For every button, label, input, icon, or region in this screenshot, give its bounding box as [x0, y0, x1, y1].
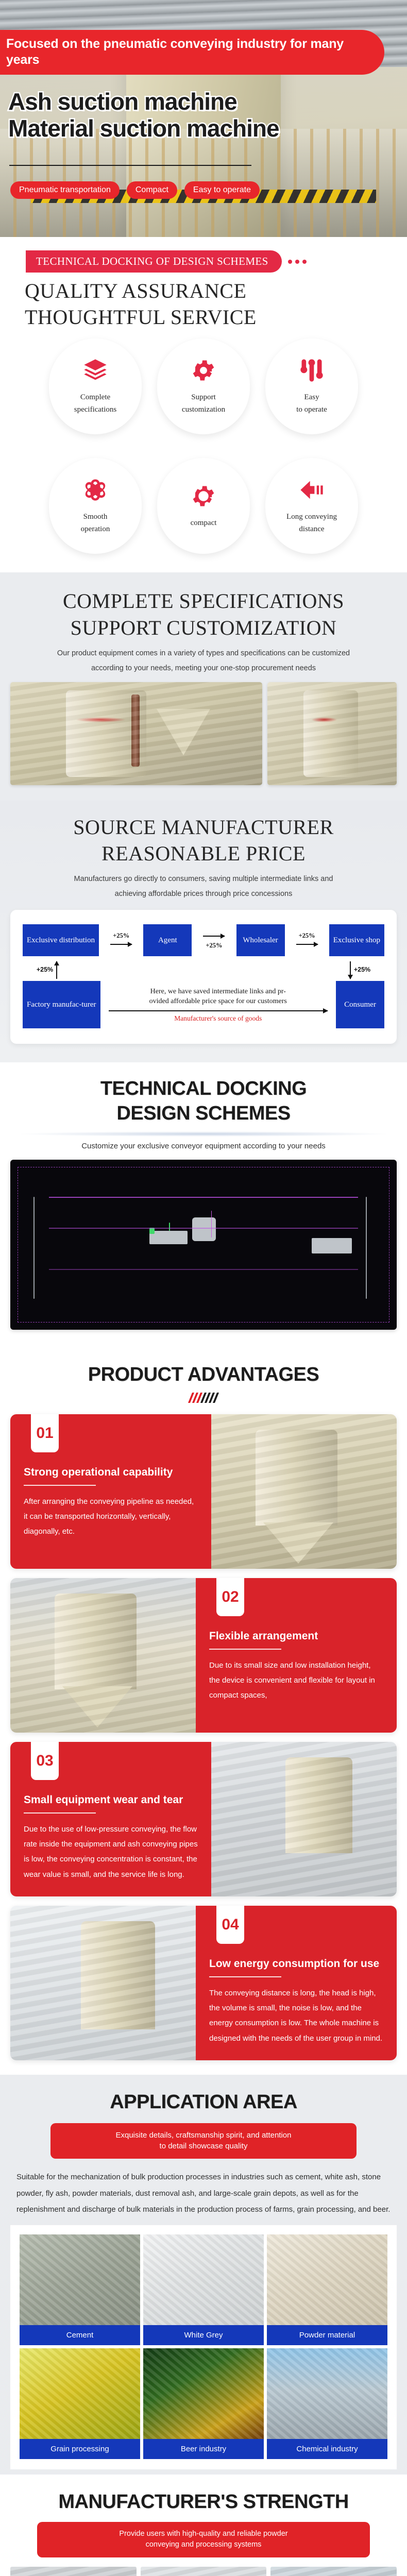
- quality-title: QUALITY ASSURANCE THOUGHTFUL SERVICE: [0, 275, 407, 330]
- specs-desc-line-2: according to your needs, meeting your on…: [27, 661, 380, 676]
- application-cell-beer-industry[interactable]: Beer industry: [143, 2348, 264, 2459]
- feature-pill-long-conveying-distance[interactable]: Long conveyingdistance: [265, 458, 358, 554]
- layers-icon: [82, 357, 109, 384]
- hero-title-line-1: Ash suction machine: [8, 89, 279, 115]
- hero-tag-0[interactable]: Pneumatic transportation: [10, 181, 120, 199]
- chain-node-exclusive-distribution: Exclusive distribution: [23, 924, 99, 956]
- advantage-rule: [209, 1649, 281, 1650]
- application-thumb: [20, 2234, 140, 2325]
- strength-banner-line-1: Provide users with high-quality and reli…: [45, 2529, 362, 2540]
- advantage-text-01: 01 Strong operational capability After a…: [10, 1414, 211, 1569]
- application-cell-cement[interactable]: Cement: [20, 2234, 140, 2345]
- advantage-photo-04: [10, 1906, 196, 2060]
- chain-arrow-1: +25%: [99, 932, 143, 949]
- quality-ribbon-row: TECHNICAL DOCKING OF DESIGN SCHEMES: [0, 237, 407, 275]
- chain-bottom-row: Factory manufac-turer Here, we have save…: [23, 981, 384, 1028]
- application-title: APPLICATION AREA: [0, 2075, 407, 2115]
- arrow-down-icon: [350, 961, 351, 979]
- application-thumb: [267, 2348, 387, 2439]
- application-banner-line-1: Exquisite details, craftsmanship spirit,…: [59, 2130, 348, 2141]
- advantage-body-03: Due to the use of low-pressure conveying…: [24, 1822, 198, 1882]
- advantage-heading-01: Strong operational capability: [24, 1466, 198, 1479]
- hero-banner-text: Focused on the pneumatic conveying indus…: [0, 30, 384, 75]
- quality-ribbon-label: TECHNICAL DOCKING OF DESIGN SCHEMES: [26, 250, 282, 273]
- arrow-up-icon: [56, 961, 57, 979]
- chain-node-wholesaler: Wholesaler: [236, 924, 285, 956]
- ribbon-dots-icon: [288, 260, 307, 264]
- chain-note-red: Manufacturer's source of goods: [109, 1014, 328, 1023]
- advantage-card-03: 03 Small equipment wear and tear Due to …: [10, 1742, 397, 1896]
- application-caption: Chemical industry: [267, 2439, 387, 2459]
- advantage-body-01: After arranging the conveying pipeline a…: [24, 1494, 198, 1539]
- advantage-heading-02: Flexible arrangement: [209, 1630, 383, 1642]
- technical-title-line-1: TECHNICAL DOCKING: [10, 1077, 397, 1101]
- advantage-text-04: 04 Low energy consumption for use The co…: [196, 1906, 397, 2060]
- advantage-text-02: 02 Flexible arrangement Due to its small…: [196, 1578, 397, 1733]
- chain-arrow-2: +25%: [192, 931, 236, 950]
- application-caption: Beer industry: [143, 2439, 264, 2459]
- advantage-rule: [24, 1485, 96, 1486]
- specs-desc-line-1: Our product equipment comes in a variety…: [27, 646, 380, 661]
- arrow-left-bars-icon: [298, 477, 325, 503]
- source-desc-line-2: achieving affordable prices through pric…: [27, 887, 380, 902]
- specs-title: COMPLETE SPECIFICATIONS SUPPORT CUSTOMIZ…: [0, 572, 407, 640]
- chain-arrow-3: +25%: [285, 932, 329, 949]
- source-title-line-2: REASONABLE PRICE: [5, 840, 402, 867]
- hero-title-line-2: Material suction machine: [8, 115, 279, 142]
- source-desc-line-1: Manufacturers go directly to consumers, …: [27, 872, 380, 887]
- application-thumb: [143, 2234, 264, 2325]
- chain-markup-1: +25%: [99, 932, 143, 940]
- chain-direct-arrow-icon: [109, 1010, 328, 1011]
- advantage-card-02: 02 Flexible arrangement Due to its small…: [10, 1578, 397, 1733]
- advantage-heading-04: Low energy consumption for use: [209, 1957, 383, 1970]
- chain-up-arrow-col: +25%: [23, 960, 71, 979]
- advantage-photo-01: [211, 1414, 397, 1569]
- feature-pill-compact[interactable]: compact: [157, 458, 250, 554]
- advantage-photo-02: [10, 1578, 196, 1733]
- arrow-right-icon: [203, 936, 225, 937]
- advantage-number-01: 01: [31, 1414, 59, 1452]
- application-caption: Powder material: [267, 2325, 387, 2345]
- cad-detail-marks: [10, 1160, 397, 1330]
- strength-photo: [270, 2567, 397, 2576]
- advantage-rule: [24, 1812, 96, 1814]
- chain-markup-2: +25%: [192, 942, 236, 950]
- feature-pill-label: Easyto operate: [276, 391, 348, 417]
- application-thumb: [267, 2234, 387, 2325]
- hero-divider-line: [9, 165, 251, 166]
- chain-vertical-arrows: +25% +25%: [23, 960, 384, 979]
- chain-markup-3: +25%: [285, 932, 329, 940]
- technical-glow-divider: [21, 1131, 386, 1137]
- advantage-body-02: Due to its small size and low installati…: [209, 1658, 383, 1703]
- advantage-text-03: 03 Small equipment wear and tear Due to …: [10, 1742, 211, 1896]
- chain-node-consumer: Consumer: [336, 981, 384, 1028]
- specs-description: Our product equipment comes in a variety…: [0, 641, 407, 676]
- application-thumb: [143, 2348, 264, 2439]
- application-cell-powder-material[interactable]: Powder material: [267, 2234, 387, 2345]
- feature-pill-label: Completespecifications: [59, 391, 131, 417]
- arrow-right-icon: [296, 944, 318, 945]
- advantage-photo-03: [211, 1742, 397, 1896]
- application-cell-grain-processing[interactable]: Grain processing: [20, 2348, 140, 2459]
- chain-note-line-2: ovided affordable price space for our cu…: [109, 996, 328, 1006]
- application-thumb: [20, 2348, 140, 2439]
- feature-pill-label: Smoothoperation: [59, 511, 131, 536]
- chain-markup-down: +25%: [354, 966, 370, 973]
- strength-title: MANUFACTURER'S STRENGTH: [0, 2475, 407, 2515]
- specs-photo-narrow: [267, 682, 397, 785]
- quality-assurance-section: TECHNICAL DOCKING OF DESIGN SCHEMES QUAL…: [0, 237, 407, 572]
- source-title-line-1: SOURCE MANUFACTURER: [5, 814, 402, 840]
- application-area-section: APPLICATION AREA Exquisite details, craf…: [0, 2075, 407, 2475]
- sliders-icon: [298, 357, 325, 384]
- specs-photo-wide: [10, 682, 262, 785]
- atom-icon: [82, 477, 109, 503]
- chain-top-row: Exclusive distribution +25% Agent +25% W…: [23, 924, 384, 956]
- slash-divider-icon: [0, 1387, 407, 1405]
- application-caption: White Grey: [143, 2325, 264, 2345]
- advantage-card-01: 01 Strong operational capability After a…: [10, 1414, 397, 1569]
- product-advantages-section: PRODUCT ADVANTAGES 01 Strong operational…: [0, 1348, 407, 2075]
- specs-image-row: [0, 676, 407, 795]
- source-manufacturer-section: SOURCE MANUFACTURER REASONABLE PRICE Man…: [0, 801, 407, 1062]
- application-grid: Cement White Grey Powder material Grain …: [20, 2234, 387, 2459]
- complete-specifications-section: COMPLETE SPECIFICATIONS SUPPORT CUSTOMIZ…: [0, 572, 407, 800]
- application-banner: Exquisite details, craftsmanship spirit,…: [50, 2123, 357, 2159]
- feature-pill-label: compact: [167, 517, 240, 530]
- application-caption: Grain processing: [20, 2439, 140, 2459]
- strength-banner: Provide users with high-quality and reli…: [37, 2522, 370, 2558]
- hero-section: Focused on the pneumatic conveying indus…: [0, 0, 407, 237]
- application-grid-card: Cement White Grey Powder material Grain …: [10, 2225, 397, 2469]
- quality-title-line-2: THOUGHTFUL SERVICE: [25, 304, 402, 330]
- arrow-right-icon: [110, 944, 132, 945]
- advantages-title: PRODUCT ADVANTAGES: [0, 1348, 407, 1387]
- chain-markup-up: +25%: [37, 966, 53, 973]
- source-title: SOURCE MANUFACTURER REASONABLE PRICE: [0, 801, 407, 867]
- technical-title: TECHNICAL DOCKING DESIGN SCHEMES: [0, 1062, 407, 1126]
- code-gear-icon: [190, 483, 217, 510]
- hero-tag-2[interactable]: Easy to operate: [184, 181, 260, 199]
- advantage-number-02: 02: [216, 1578, 244, 1616]
- technical-title-line-2: DESIGN SCHEMES: [10, 1101, 397, 1126]
- advantage-number-04: 04: [216, 1906, 244, 1944]
- price-chain-diagram: Exclusive distribution +25% Agent +25% W…: [10, 910, 397, 1044]
- feature-pill-complete-specifications[interactable]: Completespecifications: [49, 338, 142, 434]
- cad-drawing-image: [10, 1160, 397, 1330]
- application-banner-line-2: to detail showcase quality: [59, 2141, 348, 2152]
- strength-photo: [141, 2567, 267, 2576]
- strength-photo: [10, 2567, 137, 2576]
- technical-note: Customize your exclusive conveyor equipm…: [0, 1137, 407, 1153]
- chain-node-factory-manufacturer: Factory manufac-turer: [23, 981, 100, 1028]
- hero-tag-1[interactable]: Compact: [127, 181, 177, 199]
- hero-tag-list: Pneumatic transportation Compact Easy to…: [10, 181, 260, 199]
- chain-node-exclusive-shop: Exclusive shop: [329, 924, 384, 956]
- strength-photo-grid: [0, 2557, 407, 2576]
- specs-title-line-1: COMPLETE SPECIFICATIONS: [5, 588, 402, 614]
- quality-title-line-1: QUALITY ASSURANCE: [25, 278, 402, 304]
- chain-node-agent: Agent: [143, 924, 192, 956]
- feature-pill-label: Long conveyingdistance: [276, 511, 348, 536]
- advantage-heading-03: Small equipment wear and tear: [24, 1793, 198, 1806]
- feature-pill-label: Supportcustomization: [167, 391, 240, 417]
- application-description: Suitable for the mechanization of bulk p…: [0, 2159, 407, 2221]
- application-caption: Cement: [20, 2325, 140, 2345]
- technical-docking-section: TECHNICAL DOCKING DESIGN SCHEMES Customi…: [0, 1062, 407, 1348]
- feature-pill-smooth-operation[interactable]: Smoothoperation: [49, 458, 142, 554]
- advantage-number-03: 03: [31, 1742, 59, 1780]
- gear-icon: [190, 357, 217, 384]
- product-landing-page: Focused on the pneumatic conveying indus…: [0, 0, 407, 2576]
- strength-banner-line-2: conveying and processing systems: [45, 2539, 362, 2551]
- source-description: Manufacturers go directly to consumers, …: [0, 867, 407, 902]
- manufacturer-strength-section: MANUFACTURER'S STRENGTH Provide users wi…: [0, 2475, 407, 2576]
- advantage-card-04: 04 Low energy consumption for use The co…: [10, 1906, 397, 2060]
- chain-note: Here, we have saved intermediate links a…: [100, 987, 336, 1023]
- specs-title-line-2: SUPPORT CUSTOMIZATION: [5, 615, 402, 641]
- quality-feature-grid: Completespecifications Supportcustomizat…: [0, 330, 407, 567]
- chain-note-line-1: Here, we have saved intermediate links a…: [109, 987, 328, 996]
- application-cell-chemical-industry[interactable]: Chemical industry: [267, 2348, 387, 2459]
- chain-down-arrow-col: +25%: [336, 960, 384, 979]
- hero-title: Ash suction machine Material suction mac…: [8, 89, 279, 142]
- advantage-rule: [209, 1976, 281, 1977]
- feature-pill-easy-to-operate[interactable]: Easyto operate: [265, 338, 358, 434]
- advantage-body-04: The conveying distance is long, the head…: [209, 1986, 383, 2046]
- feature-pill-support-customization[interactable]: Supportcustomization: [157, 338, 250, 434]
- application-cell-white-grey[interactable]: White Grey: [143, 2234, 264, 2345]
